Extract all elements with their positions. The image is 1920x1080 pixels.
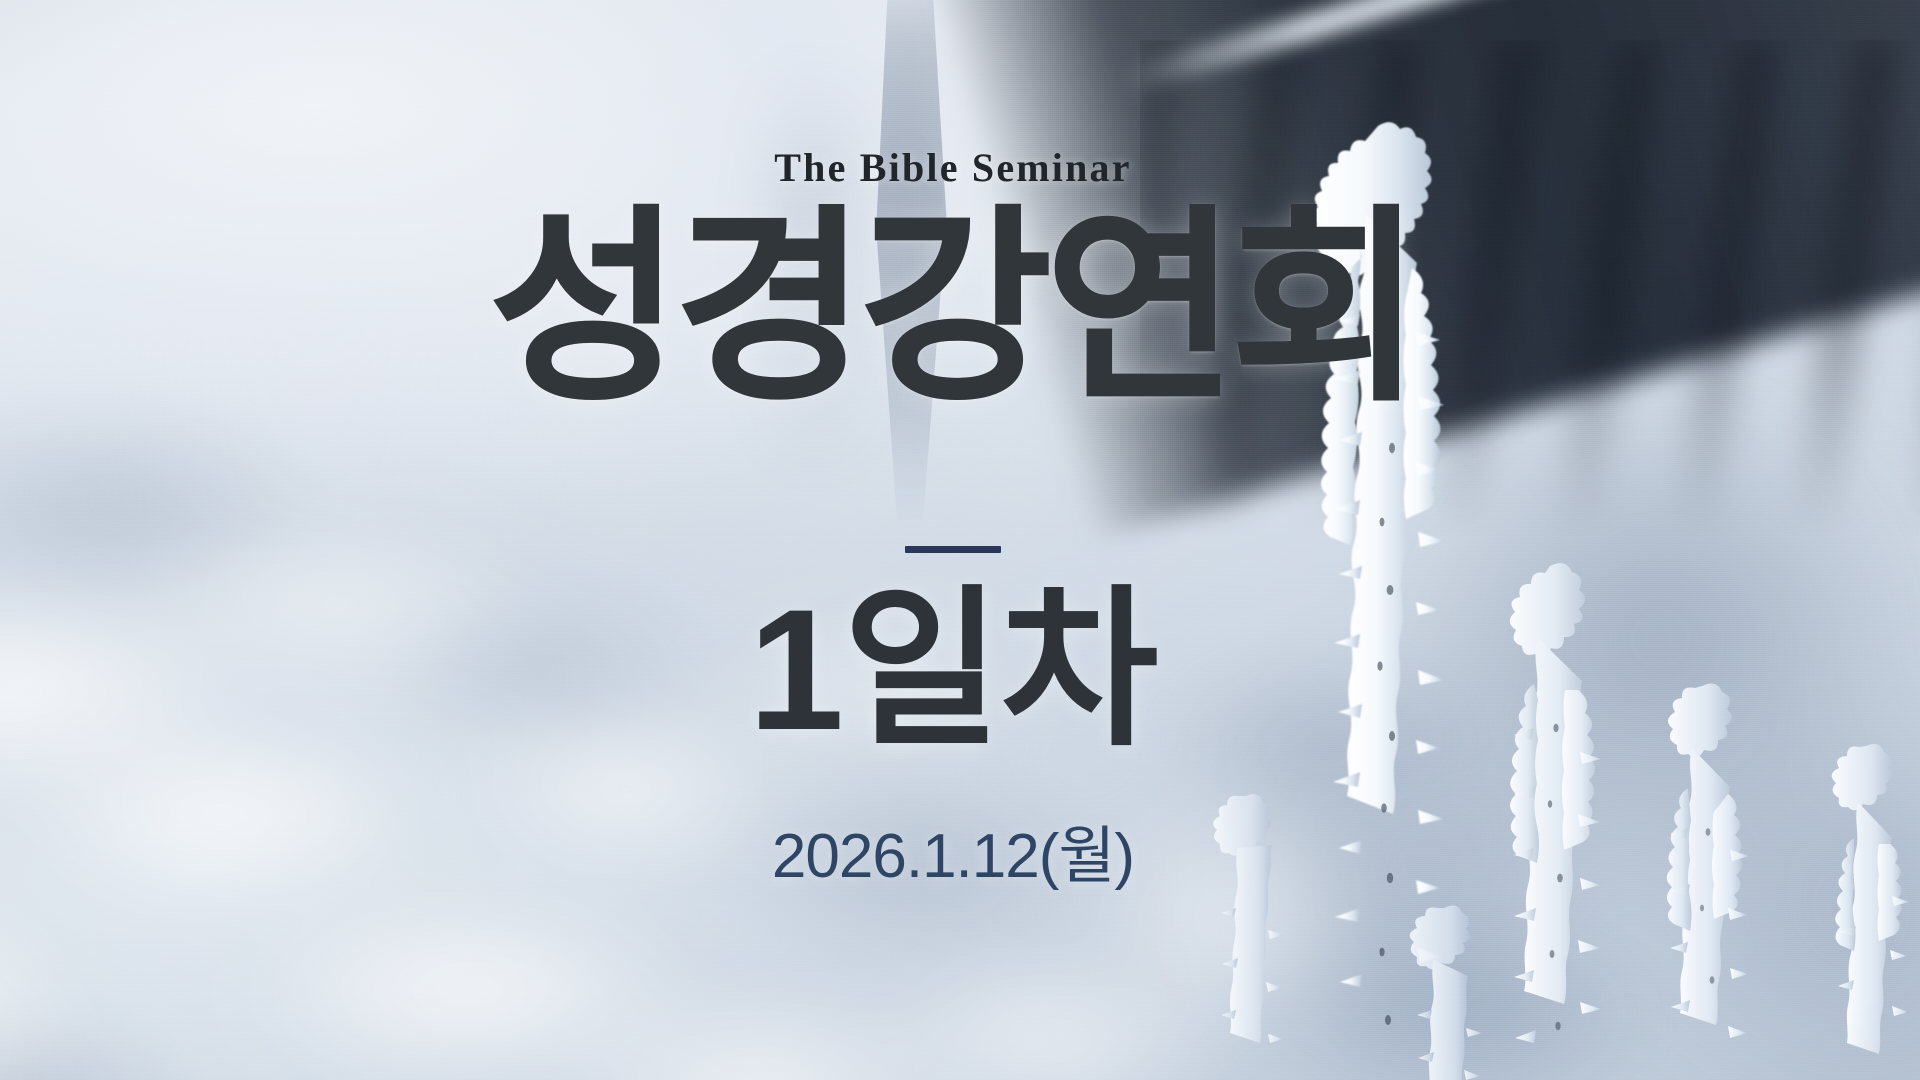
frost-stalk-edge-icon (1812, 740, 1920, 1080)
background-photo (0, 0, 1920, 1080)
frost-stalk-low-left-icon (1196, 790, 1306, 1080)
poster-canvas: The Bible Seminar 성경강연회 1일차 2026.1.12(월) (0, 0, 1920, 1080)
frost-stalk-third-icon (1640, 680, 1780, 1080)
frost-foreground (0, 0, 1920, 1080)
frost-stalk-bottom-icon (1386, 900, 1516, 1080)
